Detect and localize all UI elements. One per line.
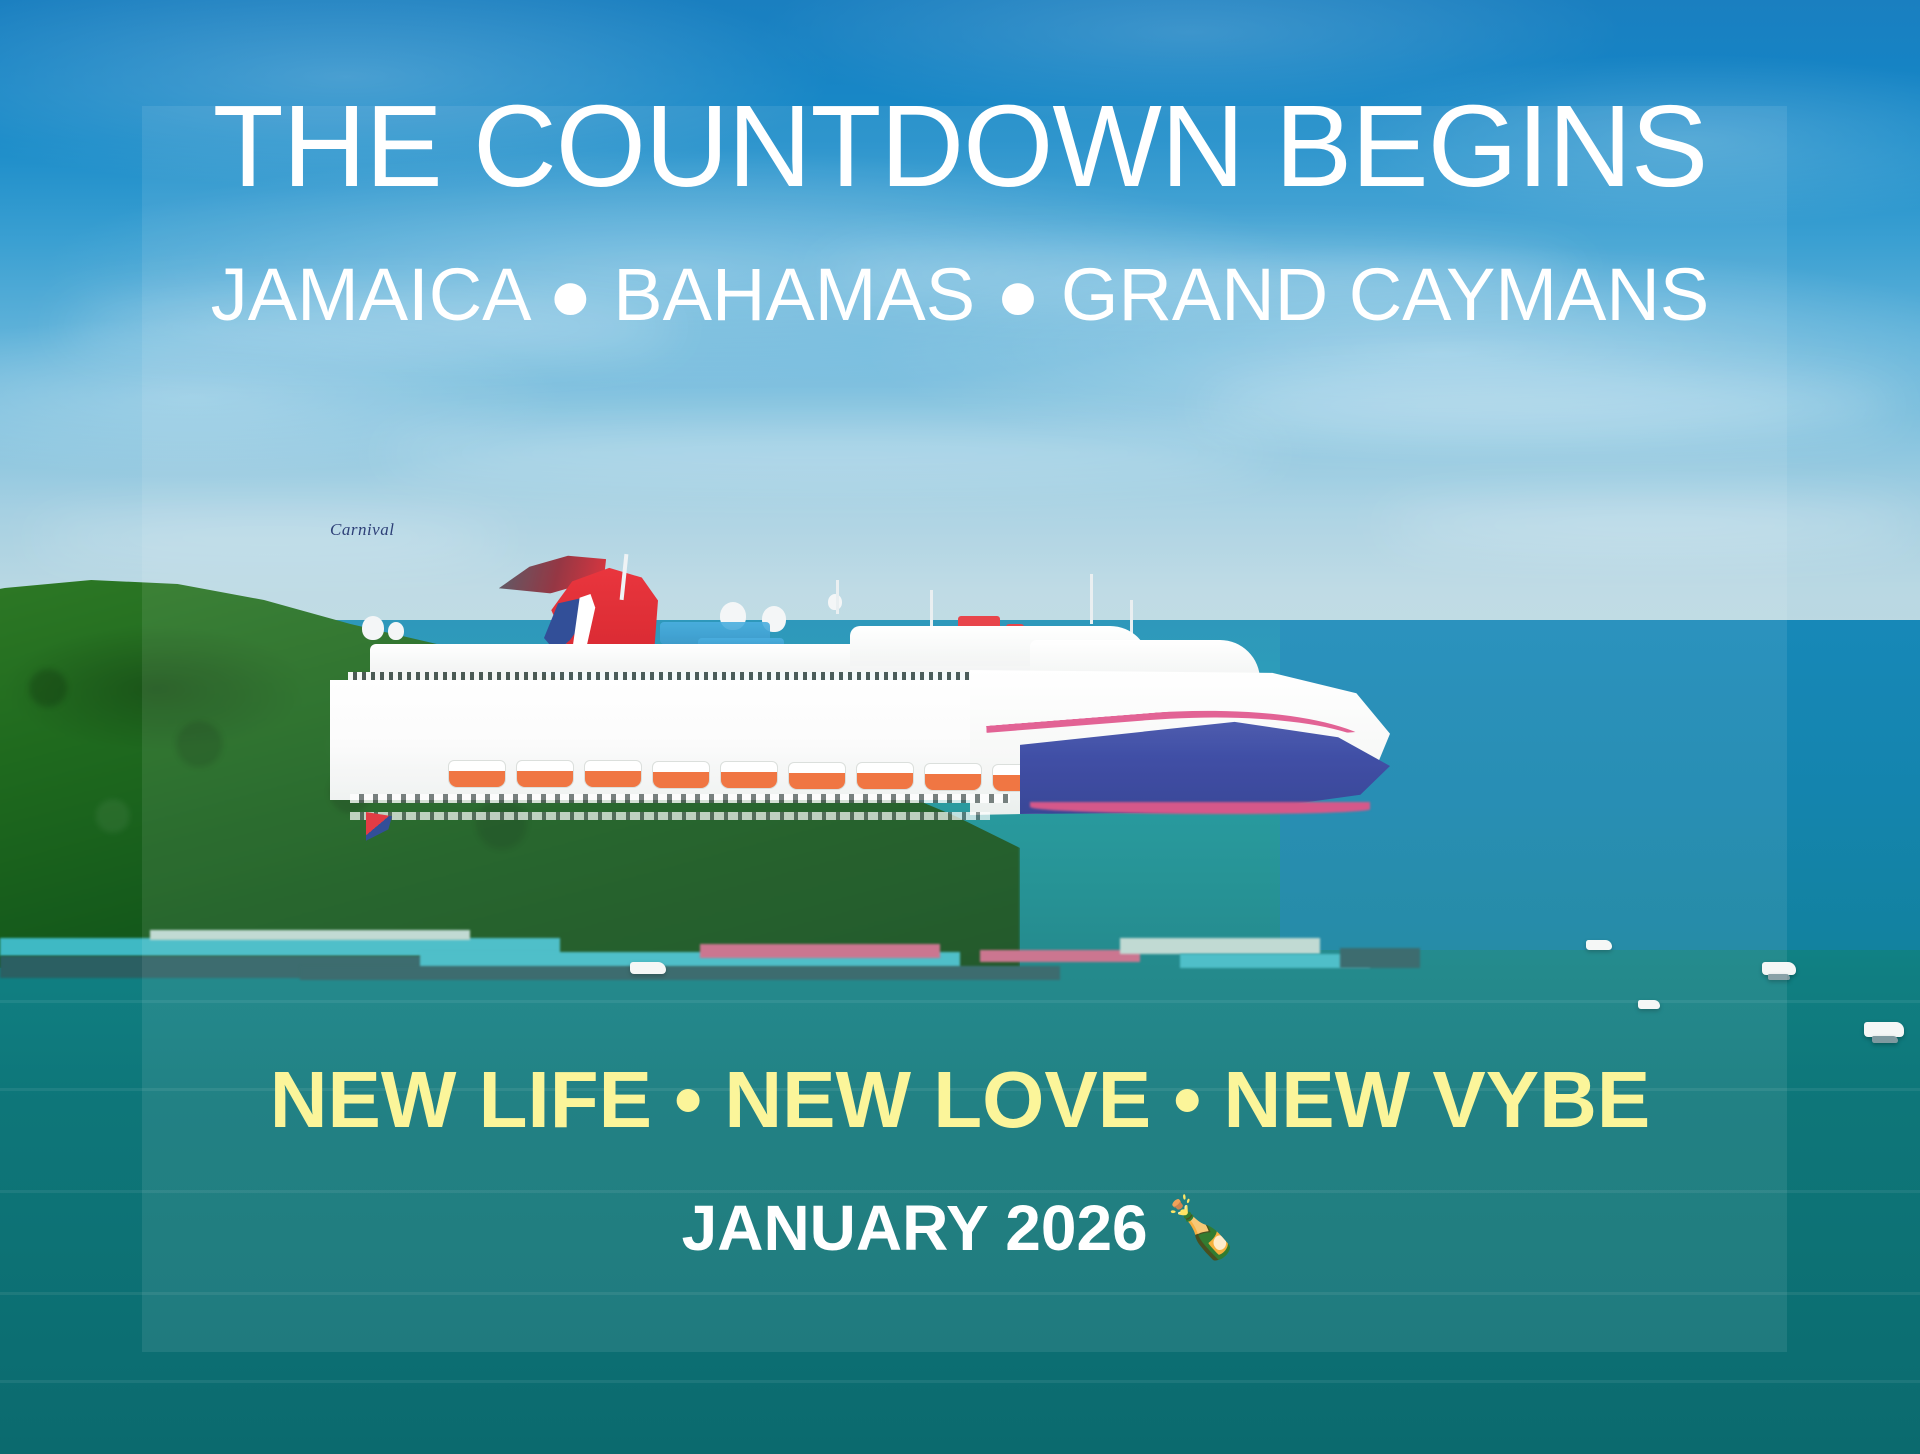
lifeboat	[584, 760, 642, 788]
small-boat	[1768, 974, 1790, 980]
pier-structure	[1120, 938, 1320, 954]
mast	[930, 590, 933, 630]
champagne-bottle-icon: 🍾	[1164, 1198, 1239, 1258]
cloud-band	[1200, 380, 1900, 432]
cruise-promo-poster: Carnival THE COUNTDOWN BEGINS JAMAICA ● …	[0, 0, 1920, 1454]
pier-structure	[150, 930, 470, 940]
cloud-band	[380, 430, 1280, 476]
lifeboat	[516, 760, 574, 788]
pier-structure	[300, 966, 1060, 980]
radome	[828, 594, 842, 610]
lifeboat	[652, 761, 710, 789]
mast	[1090, 574, 1093, 624]
page-title: THE COUNTDOWN BEGINS	[213, 88, 1707, 204]
mast	[836, 580, 839, 614]
destinations-line: JAMAICA ● BAHAMAS ● GRAND CAYMANS	[211, 258, 1709, 332]
tagline: NEW LIFE • NEW LOVE • NEW VYBE	[270, 1060, 1651, 1140]
date-label: JANUARY 2026	[682, 1196, 1148, 1260]
pier-structure	[1340, 948, 1420, 968]
small-boat	[1864, 1022, 1904, 1037]
radome	[388, 622, 404, 640]
cruise-ship: Carnival	[330, 520, 1390, 810]
cloud-band	[1380, 505, 1920, 545]
lifeboat	[448, 760, 506, 788]
sea-shimmer	[0, 1000, 1920, 1003]
small-boat	[630, 962, 666, 974]
pier-structure	[700, 944, 940, 958]
lifeboat	[720, 761, 778, 789]
small-boat	[1872, 1036, 1898, 1043]
pier-structure	[980, 950, 1140, 962]
lifeboat	[788, 762, 846, 790]
porthole-row	[350, 794, 1010, 803]
sea-shimmer	[0, 1380, 1920, 1383]
porthole-row	[350, 812, 990, 820]
radome	[362, 616, 384, 640]
lifeboat	[924, 763, 982, 791]
carnival-wordmark: Carnival	[330, 520, 394, 540]
date-line: JANUARY 2026 🍾	[682, 1196, 1239, 1260]
small-boat	[1638, 1000, 1660, 1009]
lifeboat	[856, 762, 914, 790]
small-boat	[1586, 940, 1612, 950]
sea-shimmer	[0, 1292, 1920, 1295]
